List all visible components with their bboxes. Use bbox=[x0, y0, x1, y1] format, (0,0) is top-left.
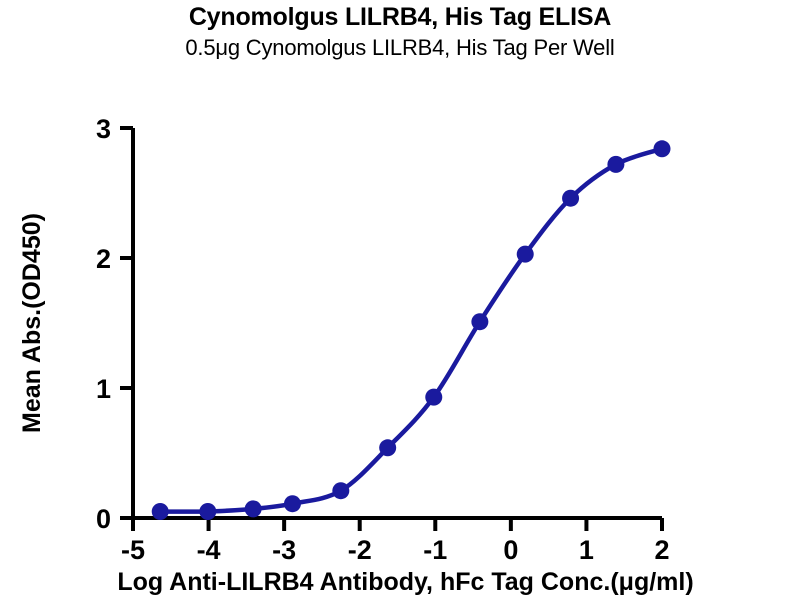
axis-labels: -5-4-3-2-10120123Log Anti-LILRB4 Antibod… bbox=[18, 114, 694, 596]
data-points bbox=[152, 140, 671, 520]
x-axis-title: Log Anti-LILRB4 Antibody, hFc Tag Conc.(… bbox=[117, 568, 693, 596]
data-point-10 bbox=[607, 156, 624, 173]
data-point-4 bbox=[332, 482, 349, 499]
data-point-1 bbox=[199, 503, 216, 520]
y-tick-label: 0 bbox=[96, 504, 111, 534]
y-tick-label: 1 bbox=[96, 374, 111, 404]
data-point-8 bbox=[517, 246, 534, 263]
data-point-0 bbox=[152, 503, 169, 520]
y-tick-label: 3 bbox=[96, 114, 111, 144]
data-point-3 bbox=[284, 495, 301, 512]
data-point-9 bbox=[562, 190, 579, 207]
x-tick-label: -1 bbox=[423, 535, 447, 565]
elisa-chart-figure: Cynomolgus LILRB4, His Tag ELISA 0.5μg C… bbox=[0, 0, 800, 600]
data-point-7 bbox=[471, 313, 488, 330]
data-point-2 bbox=[245, 500, 262, 517]
x-tick-label: -3 bbox=[272, 535, 296, 565]
data-point-11 bbox=[654, 140, 671, 157]
plot-area: -5-4-3-2-10120123Log Anti-LILRB4 Antibod… bbox=[0, 0, 800, 600]
y-tick-label: 2 bbox=[96, 244, 111, 274]
x-tick-label: 2 bbox=[654, 535, 669, 565]
x-tick-label: -2 bbox=[348, 535, 372, 565]
x-tick-label: -4 bbox=[197, 535, 221, 565]
y-axis-title: Mean Abs.(OD450) bbox=[18, 213, 46, 433]
x-tick-label: 1 bbox=[579, 535, 594, 565]
x-tick-label: -5 bbox=[121, 535, 145, 565]
curve-path bbox=[160, 149, 662, 512]
data-point-6 bbox=[425, 389, 442, 406]
data-point-5 bbox=[379, 439, 396, 456]
fit-curve bbox=[160, 149, 662, 512]
x-tick-label: 0 bbox=[503, 535, 518, 565]
